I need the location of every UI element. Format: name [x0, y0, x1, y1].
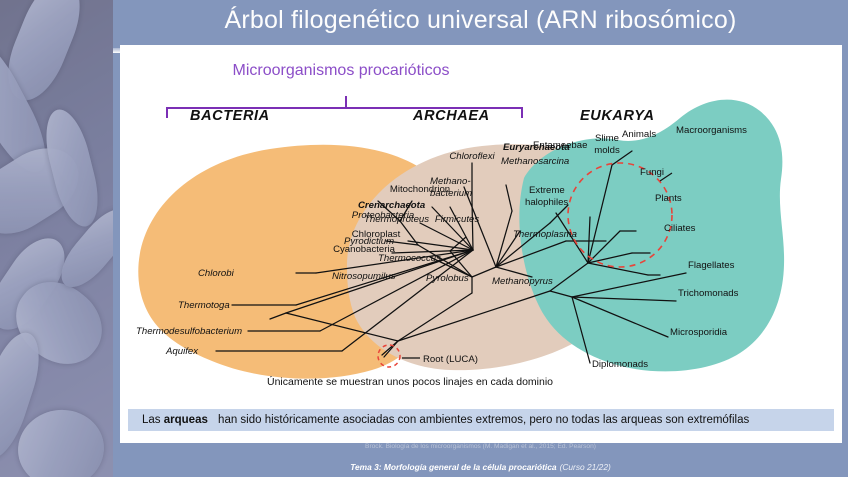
page-title: Árbol filogenético universal (ARN ribosó… — [113, 6, 848, 35]
taxon-label-slime-line1: Slime — [595, 133, 619, 144]
taxon-label-nitrosopumilus: Nitrosopumilus — [332, 271, 396, 282]
taxon-label-pyrolobus: Pyrolobus — [426, 273, 469, 284]
taxon-label-firmicutes: Firmicutes — [435, 214, 479, 225]
taxon-label-thermotoga: Thermotoga — [178, 300, 230, 311]
taxon-label-methano-line1: Methano- — [430, 176, 471, 187]
taxon-label-thermodesulfobacterium: Thermodesulfobacterium — [136, 326, 242, 337]
callout-suffix: han sido históricamente asociadas con am… — [208, 414, 749, 426]
taxon-label-flagellates: Flagellates — [688, 260, 735, 271]
callout-prefix: Las — [135, 414, 164, 426]
taxon-label-thermoproteus: Thermoproteus — [364, 214, 429, 225]
taxon-label-animals: Animals — [622, 129, 656, 140]
taxon-label-extreme-line1: Extreme — [529, 185, 565, 196]
footer-bar: Tema 3: Morfología general de la célula … — [113, 456, 848, 477]
callout-text: Las arqueas han sido históricamente asoc… — [128, 414, 749, 426]
taxon-label-aquifex: Aquifex — [165, 346, 199, 357]
taxon-label-root-luca: Root (LUCA) — [423, 354, 478, 365]
taxon-label-pyrodictium: Pyrodictium — [344, 236, 394, 247]
taxon-label-extreme-line2: halophiles — [525, 197, 568, 208]
footer-course: (Curso 21/22) — [560, 462, 611, 472]
taxon-label-chlorobi: Chlorobi — [198, 268, 235, 279]
taxon-label-slime-line2: molds — [594, 145, 620, 156]
taxon-label-methano-line2: bacterium — [430, 188, 472, 199]
taxon-label-macroorganisms: Macroorganisms — [676, 125, 747, 136]
taxon-label-methanopyrus: Methanopyrus — [492, 276, 553, 287]
taxon-label-methanosarcina: Methanosarcina — [501, 156, 569, 167]
taxon-label-thermoplasma: Thermoplasma — [513, 229, 577, 240]
taxon-label-fungi: Fungi — [640, 167, 664, 178]
callout-bold-term: arqueas — [164, 414, 208, 426]
taxon-label-plants: Plants — [655, 193, 682, 204]
bacteria-micrograph-decoration — [0, 0, 113, 477]
taxon-label-thermococcus: Thermococcus — [378, 253, 441, 264]
footer-topic: Tema 3: Morfología general de la célula … — [350, 462, 556, 472]
archaea-extremophile-callout: Las arqueas han sido históricamente asoc… — [128, 409, 834, 431]
taxon-label-entamoebae: Entamoebae — [533, 140, 587, 151]
taxon-label-chloroflexi: Chloroflexi — [449, 151, 495, 162]
slide-header: Árbol filogenético universal (ARN ribosó… — [113, 0, 848, 48]
source-credit: Brock. Biología de los microorganismos (… — [113, 443, 848, 450]
slide: Árbol filogenético universal (ARN ribosó… — [0, 0, 848, 477]
tree-caption: Únicamente se muestran unos pocos linaje… — [200, 376, 620, 388]
taxon-label-trichomonads: Trichomonads — [678, 288, 739, 299]
right-edge-accent — [842, 0, 848, 477]
taxon-label-crenarchaeota: Crenarchaeota — [358, 200, 426, 211]
taxon-label-ciliates: Ciliates — [664, 223, 696, 234]
taxon-label-diplomonads: Diplomonads — [592, 359, 648, 370]
taxon-label-microsporidia: Microsporidia — [670, 327, 728, 338]
